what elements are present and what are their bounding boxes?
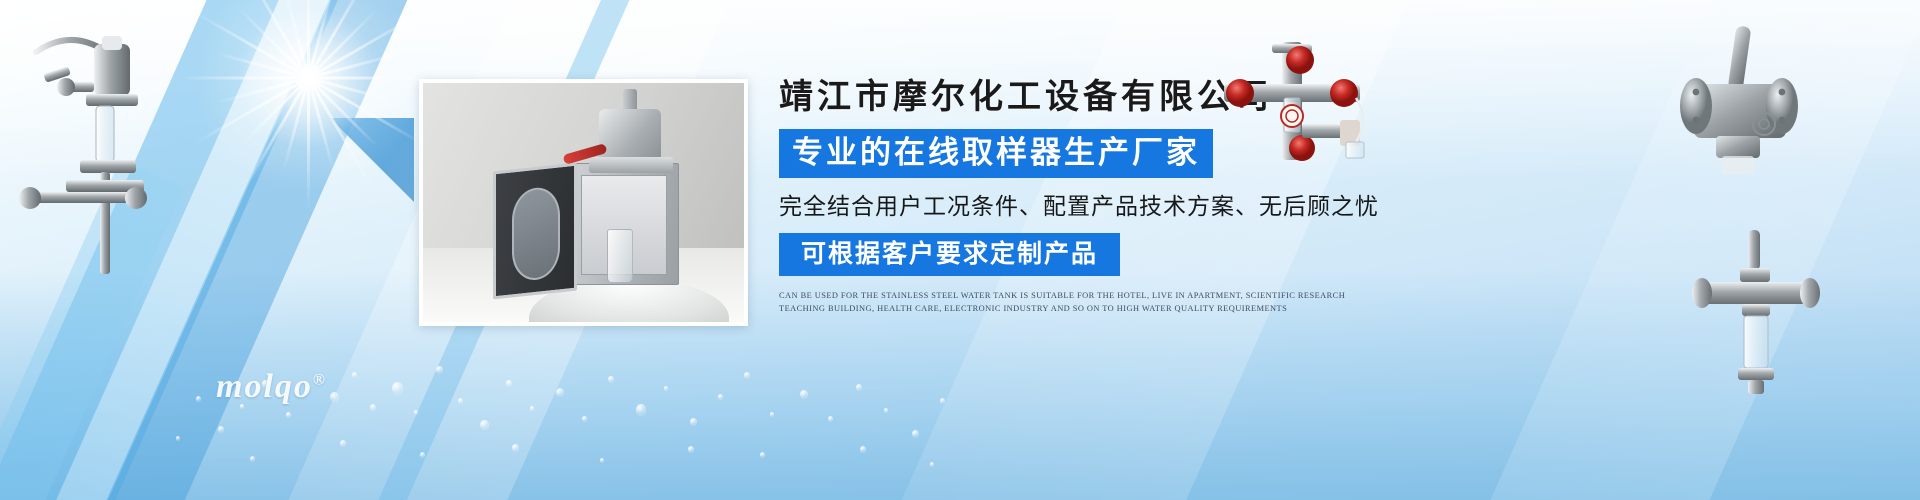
water-droplet	[718, 394, 723, 400]
right-product-plug-valve	[1664, 24, 1812, 176]
photo-valve-flange	[589, 157, 673, 173]
water-droplet	[608, 376, 614, 383]
watermark-logo: molqo®	[216, 368, 327, 406]
subline-text: 完全结合用户工况条件、配置产品技术方案、无后顾之忧	[779, 190, 1399, 222]
cross-valve-icon	[1206, 38, 1378, 164]
water-droplet	[600, 458, 604, 463]
watermark-registered-mark: ®	[313, 372, 327, 389]
water-droplet	[690, 418, 697, 426]
water-droplet	[340, 440, 346, 447]
cta-badge[interactable]: 可根据客户要求定制产品	[779, 233, 1120, 276]
lever-plug-valve-icon	[1664, 24, 1812, 176]
sun-ray	[307, 78, 310, 210]
water-droplet	[760, 452, 765, 458]
water-droplet	[770, 412, 774, 417]
water-droplet	[392, 382, 403, 395]
water-droplet	[636, 404, 646, 416]
headline-badge: 专业的在线取样器生产厂家	[779, 129, 1213, 178]
water-droplet	[744, 372, 750, 379]
water-droplet	[506, 380, 512, 387]
water-droplet	[884, 408, 888, 413]
sun-ray	[176, 77, 308, 80]
water-droplet	[196, 396, 201, 402]
water-droplet	[250, 456, 255, 462]
water-droplet	[530, 406, 534, 411]
right-product-inline-sampler	[1686, 228, 1826, 396]
watermark-text: molqo	[216, 368, 313, 405]
english-description: CAN BE USED FOR THE STAINLESS STEEL WATE…	[779, 290, 1379, 315]
water-droplet	[912, 430, 919, 438]
sampling-rig-icon	[8, 22, 178, 302]
center-product-photo	[419, 79, 748, 326]
water-droplet	[414, 410, 418, 415]
photo-sample-bottle	[607, 229, 633, 283]
sun-burst-icon	[178, 0, 438, 208]
water-droplet	[512, 444, 519, 452]
water-droplet	[930, 462, 934, 467]
water-droplet	[218, 426, 224, 433]
water-droplet	[688, 446, 694, 453]
water-droplet	[458, 398, 463, 404]
water-droplet	[856, 384, 862, 391]
water-droplet	[582, 416, 587, 422]
right-product-cross-valve	[1206, 38, 1378, 164]
inline-sampler-icon	[1686, 228, 1826, 396]
water-droplet	[664, 386, 668, 391]
photo-cabinet-door	[493, 163, 577, 300]
promotional-banner: 靖江市摩尔化工设备有限公司 专业的在线取样器生产厂家 完全结合用户工况条件、配置…	[0, 0, 1920, 500]
photo-door-window	[512, 185, 560, 282]
left-product-sampling-rig	[8, 22, 178, 302]
water-droplet	[940, 398, 945, 404]
water-droplet	[176, 436, 180, 441]
water-droplet	[286, 412, 291, 418]
water-droplet	[436, 366, 443, 374]
water-droplet	[860, 446, 866, 453]
water-droplet	[420, 452, 425, 458]
water-droplet	[370, 404, 376, 411]
water-droplet	[352, 372, 357, 378]
water-droplet	[828, 416, 833, 422]
